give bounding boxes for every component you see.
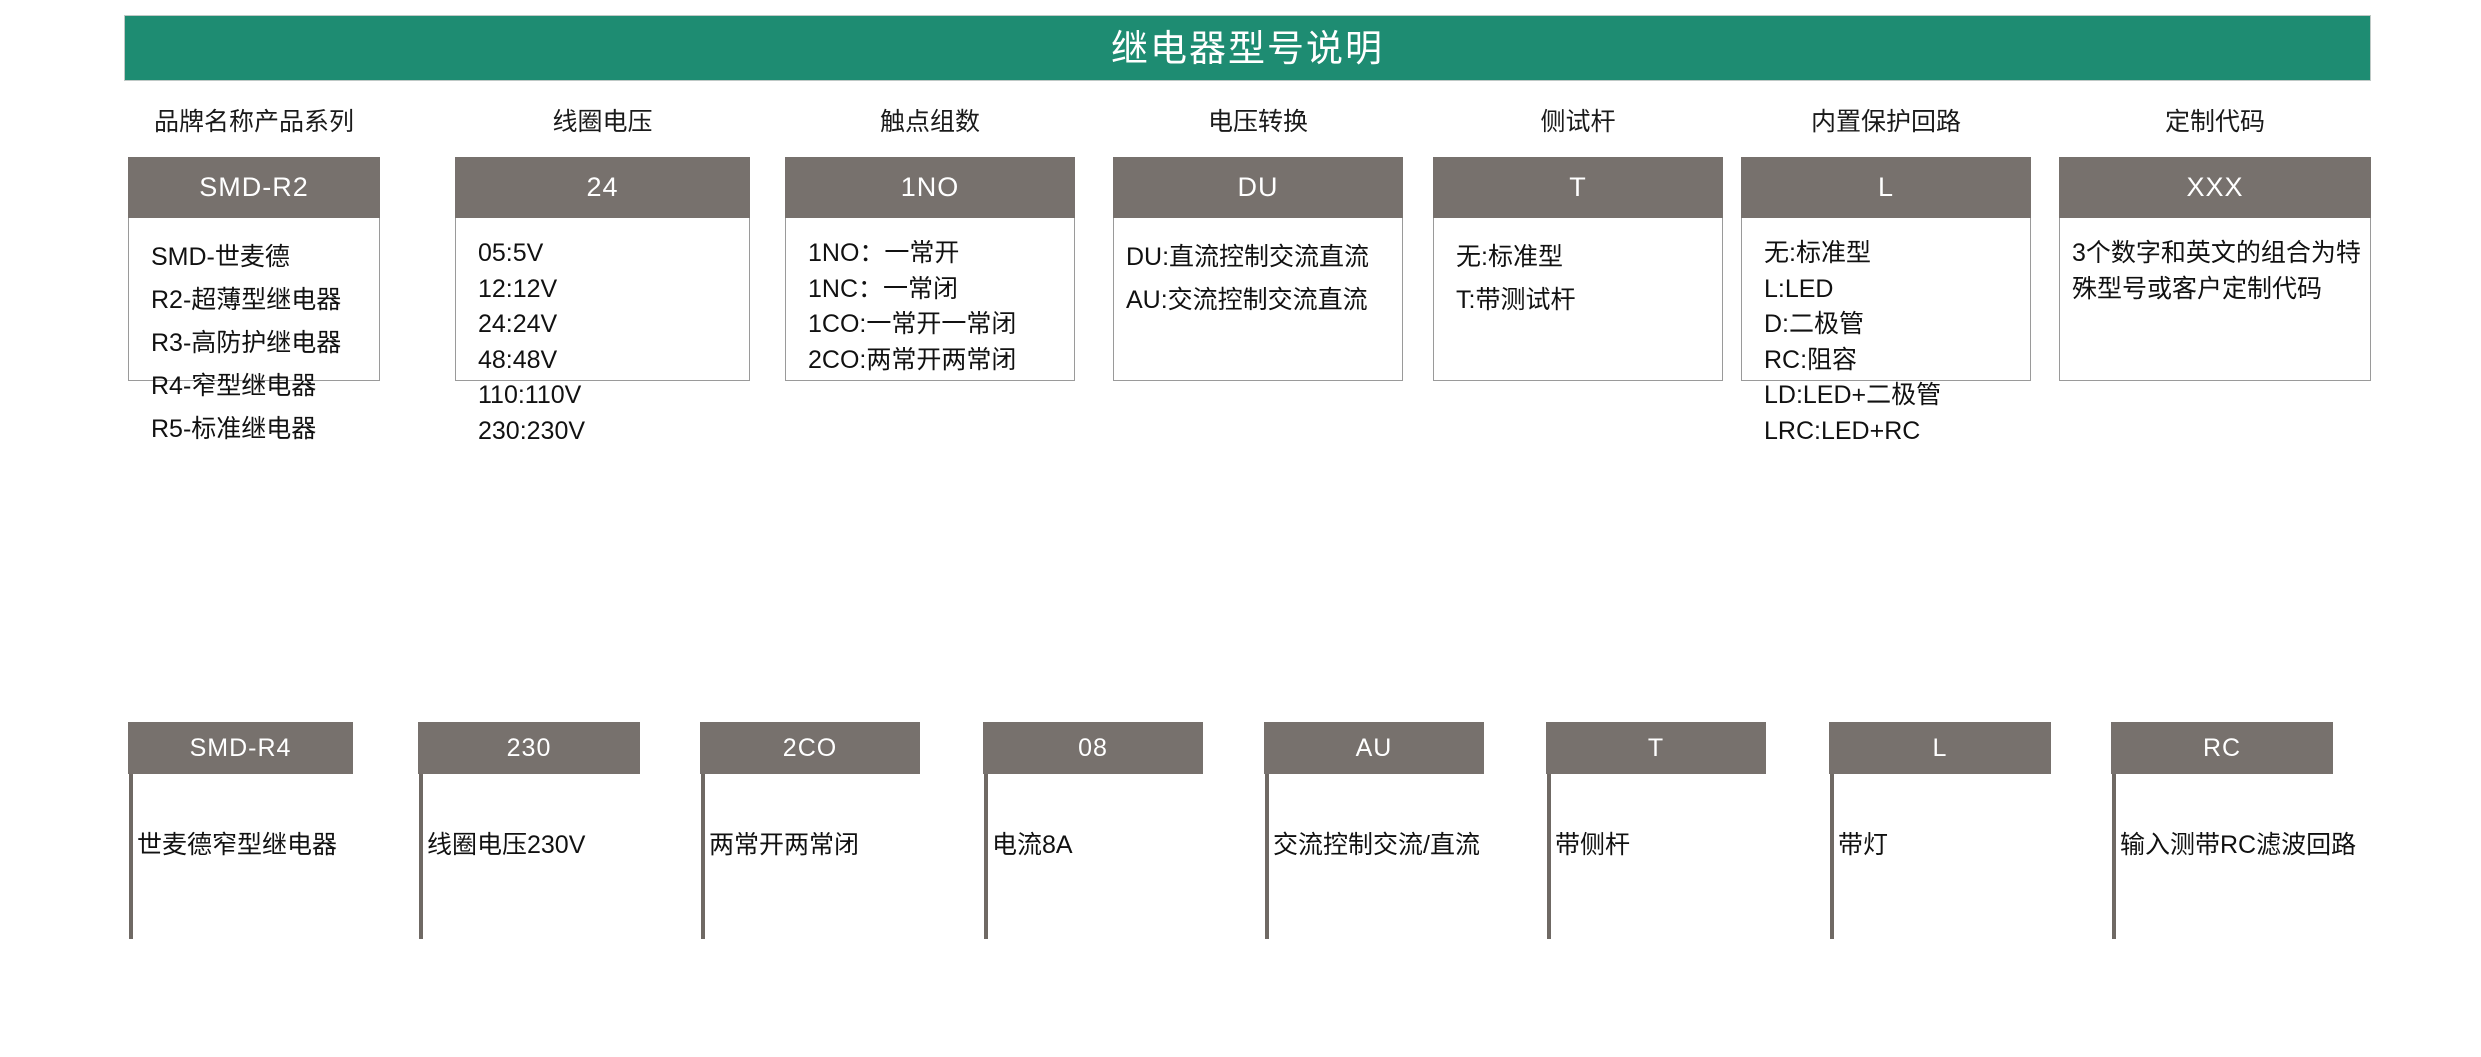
example-item: 230 线圈电压230V [418,722,640,774]
example-item: AU 交流控制交流/直流 [1264,722,1484,774]
column-body: SMD-世麦德 R2-超薄型继电器 R3-高防护继电器 R4-窄型继电器 R5-… [129,218,379,451]
example-code: 08 [983,722,1203,774]
example-item: T 带侧杆 [1546,722,1766,774]
spec-line: AU:交流控制交流直流 [1126,279,1402,322]
relay-model-explanation-page: 继电器型号说明 品牌名称产品系列 SMD-R2 SMD-世麦德 R2-超薄型继电… [0,0,2481,1057]
spec-line: SMD-世麦德 [151,236,379,279]
spec-line: 12:12V [478,272,749,308]
spec-column-custom-code: 定制代码 XXX 3个数字和英文的组合为特殊型号或客户定制代码 [2059,110,2371,381]
example-label: 两常开两常闭 [709,833,859,858]
column-box: 24 05:5V 12:12V 24:24V 48:48V 110:110V 2… [455,157,750,381]
spec-line: RC:阻容 [1764,343,2030,379]
column-box: T 无:标准型 T:带测试杆 [1433,157,1723,381]
spec-line: L:LED [1764,272,2030,308]
example-stem-line [1547,774,1551,939]
column-caption: 品牌名称产品系列 [128,110,380,140]
example-decode-row: SMD-R4 世麦德窄型继电器 230 线圈电压230V 2CO 两常开两常闭 … [128,722,2371,962]
example-label: 输入测带RC滤波回路 [2120,833,2356,858]
column-box: L 无:标准型 L:LED D:二极管 RC:阻容 LD:LED+二极管 LRC… [1741,157,2031,381]
column-box: XXX 3个数字和英文的组合为特殊型号或客户定制代码 [2059,157,2371,381]
example-item: 08 电流8A [983,722,1203,774]
spec-line: 24:24V [478,307,749,343]
example-item: SMD-R4 世麦德窄型继电器 [128,722,353,774]
column-body: 无:标准型 L:LED D:二极管 RC:阻容 LD:LED+二极管 LRC:L… [1742,218,2030,449]
column-caption: 触点组数 [785,110,1075,140]
spec-column-voltage-conversion: 电压转换 DU DU:直流控制交流直流 AU:交流控制交流直流 [1113,110,1403,381]
example-stem-line [419,774,423,939]
example-stem-line [2112,774,2116,939]
column-body: 3个数字和英文的组合为特殊型号或客户定制代码 [2060,218,2370,307]
example-label: 电流8A [992,833,1073,858]
spec-column-contact-sets: 触点组数 1NO 1NO：一常开 1NC：一常闭 1CO:一常开一常闭 2CO:… [785,110,1075,381]
example-label: 世麦德窄型继电器 [137,833,337,858]
page-title: 继电器型号说明 [1111,30,1384,67]
spec-line: 2CO:两常开两常闭 [808,343,1074,379]
example-code: AU [1264,722,1484,774]
spec-line: 无:标准型 [1456,236,1722,279]
example-item: 2CO 两常开两常闭 [700,722,920,774]
example-stem-line [701,774,705,939]
example-stem-line [984,774,988,939]
spec-line: LRC:LED+RC [1764,414,2030,450]
column-code-header: DU [1113,157,1403,218]
spec-column-coil-voltage: 线圈电压 24 05:5V 12:12V 24:24V 48:48V 110:1… [455,110,750,381]
example-code: 2CO [700,722,920,774]
example-code: T [1546,722,1766,774]
column-body: 无:标准型 T:带测试杆 [1434,218,1722,322]
spec-line: R3-高防护继电器 [151,322,379,365]
example-item: L 带灯 [1829,722,2051,774]
example-code: 230 [418,722,640,774]
column-code-header: L [1741,157,2031,218]
example-code: RC [2111,722,2333,774]
column-caption: 线圈电压 [455,110,750,140]
example-label: 线圈电压230V [427,833,585,858]
example-label: 交流控制交流/直流 [1273,833,1480,858]
spec-line: R2-超薄型继电器 [151,279,379,322]
column-caption: 电压转换 [1113,110,1403,140]
column-code-header: 24 [455,157,750,218]
column-caption: 定制代码 [2059,110,2371,140]
page-banner: 继电器型号说明 [124,15,2371,81]
column-body: 05:5V 12:12V 24:24V 48:48V 110:110V 230:… [456,218,749,449]
column-body: 1NO：一常开 1NC：一常闭 1CO:一常开一常闭 2CO:两常开两常闭 [786,218,1074,378]
spec-line: DU:直流控制交流直流 [1126,236,1402,279]
spec-line: 3个数字和英文的组合为特殊型号或客户定制代码 [2072,236,2364,307]
spec-columns: 品牌名称产品系列 SMD-R2 SMD-世麦德 R2-超薄型继电器 R3-高防护… [128,110,2371,530]
column-box: 1NO 1NO：一常开 1NC：一常闭 1CO:一常开一常闭 2CO:两常开两常… [785,157,1075,381]
spec-line: 1CO:一常开一常闭 [808,307,1074,343]
spec-line: 230:230V [478,414,749,450]
spec-column-test-lever: 侧试杆 T 无:标准型 T:带测试杆 [1433,110,1723,381]
spec-line: 110:110V [478,378,749,414]
column-box: SMD-R2 SMD-世麦德 R2-超薄型继电器 R3-高防护继电器 R4-窄型… [128,157,380,381]
column-code-header: T [1433,157,1723,218]
column-caption: 内置保护回路 [1741,110,2031,140]
example-label: 带侧杆 [1555,833,1630,858]
spec-line: 1NO：一常开 [808,236,1074,272]
example-stem-line [129,774,133,939]
column-box: DU DU:直流控制交流直流 AU:交流控制交流直流 [1113,157,1403,381]
spec-column-brand-series: 品牌名称产品系列 SMD-R2 SMD-世麦德 R2-超薄型继电器 R3-高防护… [128,110,380,381]
column-body: DU:直流控制交流直流 AU:交流控制交流直流 [1114,218,1402,322]
column-code-header: SMD-R2 [128,157,380,218]
example-code: L [1829,722,2051,774]
column-code-header: 1NO [785,157,1075,218]
spec-line: R4-窄型继电器 [151,365,379,408]
spec-line: 05:5V [478,236,749,272]
example-stem-line [1265,774,1269,939]
spec-line: R5-标准继电器 [151,408,379,451]
column-code-header: XXX [2059,157,2371,218]
column-caption: 侧试杆 [1433,110,1723,140]
spec-column-protection-circuit: 内置保护回路 L 无:标准型 L:LED D:二极管 RC:阻容 LD:LED+… [1741,110,2031,381]
spec-line: 48:48V [478,343,749,379]
example-code: SMD-R4 [128,722,353,774]
example-label: 带灯 [1838,833,1888,858]
spec-line: 无:标准型 [1764,236,2030,272]
spec-line: 1NC：一常闭 [808,272,1074,308]
example-item: RC 输入测带RC滤波回路 [2111,722,2333,774]
spec-line: D:二极管 [1764,307,2030,343]
spec-line: T:带测试杆 [1456,279,1722,322]
example-stem-line [1830,774,1834,939]
spec-line: LD:LED+二极管 [1764,378,2030,414]
